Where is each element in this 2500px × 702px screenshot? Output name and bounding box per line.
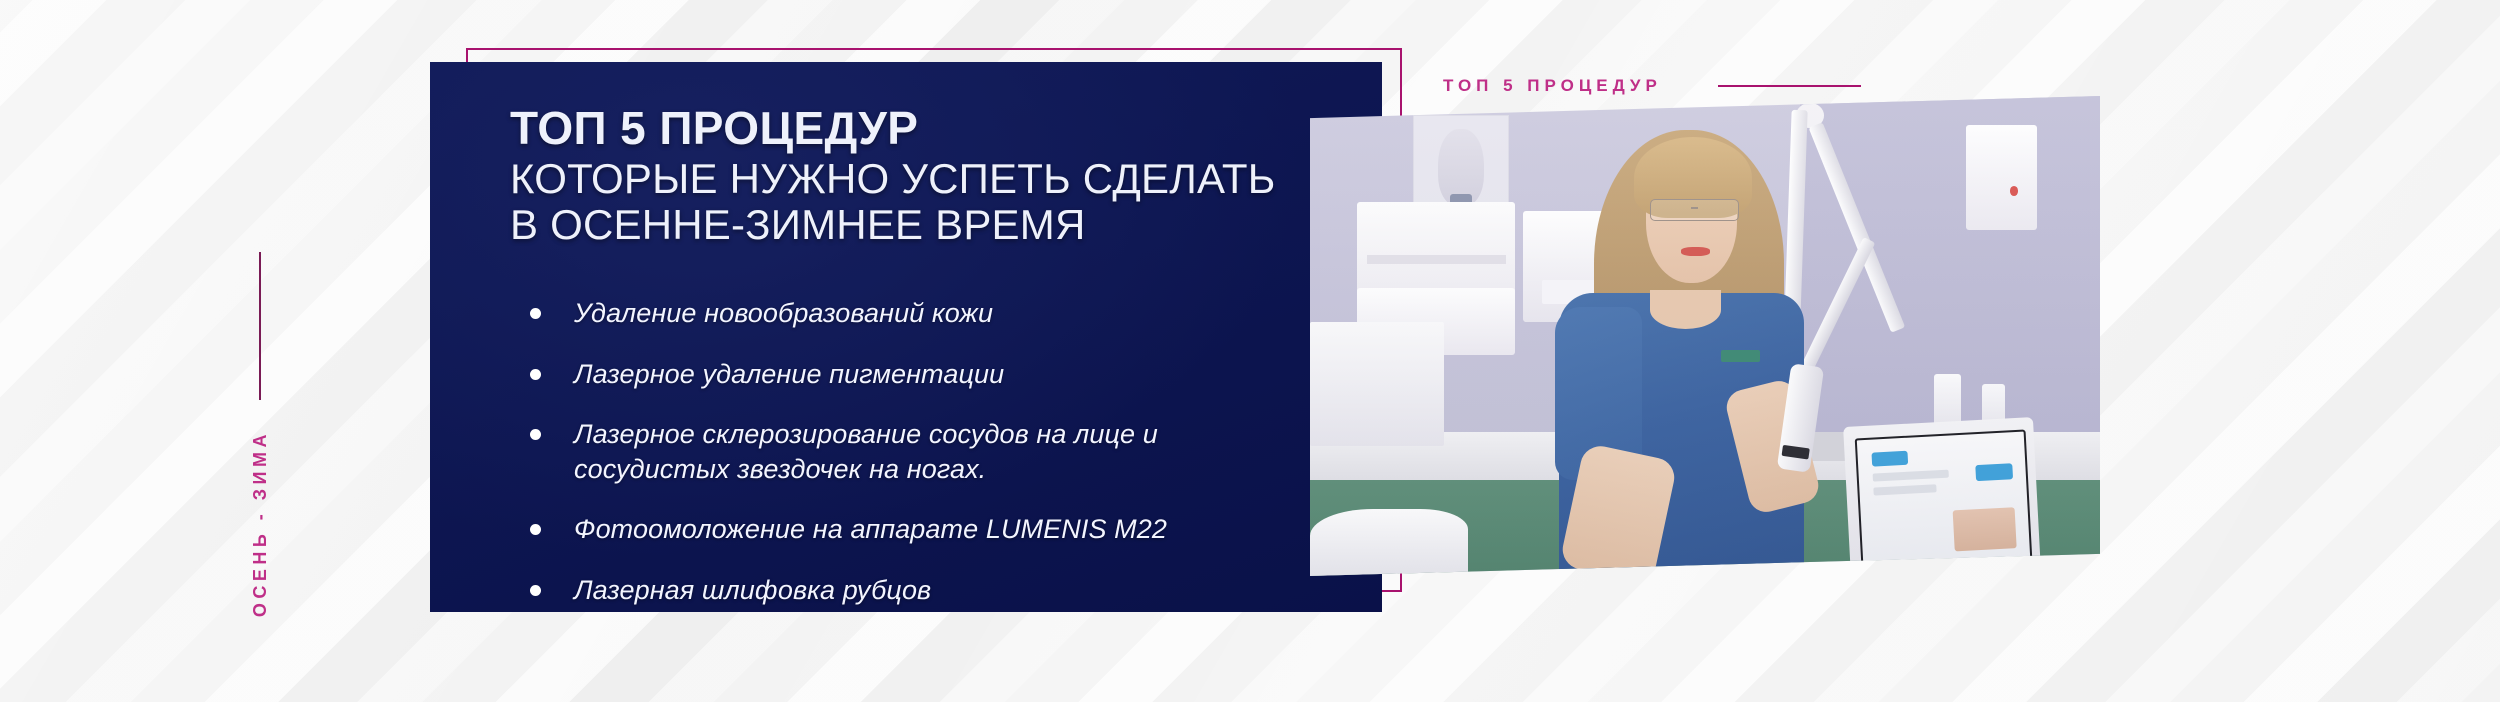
headline-line-2: КОТОРЫЕ НУЖНО УСПЕТЬ СДЕЛАТЬ — [510, 156, 1350, 202]
list-item: Лазерное склерозирование сосудов на лице… — [512, 417, 1312, 486]
season-vertical-label: ОСЕНЬ - ЗИМА — [233, 430, 287, 640]
eyebrow-label: ТОП 5 ПРОЦЕДУР — [1443, 76, 1861, 96]
list-item: Лазерное удаление пигментации — [512, 357, 1312, 392]
eyebrow-label-text: ТОП 5 ПРОЦЕДУР — [1443, 76, 1662, 96]
list-item: Удаление новообразований кожи — [512, 296, 1312, 331]
headline-line-3: В ОСЕННЕ-ЗИМНЕЕ ВРЕМЯ — [510, 202, 1350, 248]
headline-line-1: ТОП 5 ПРОЦЕДУР — [510, 104, 1350, 154]
list-item: Лазерная шлифовка рубцов — [512, 573, 1312, 608]
season-vertical-label-text: ОСЕНЬ - ЗИМА — [250, 430, 271, 617]
photo-color-tone — [1310, 96, 2100, 576]
procedure-list: Удаление новообразований кожи Лазерное у… — [512, 296, 1312, 607]
left-vertical-rule — [259, 252, 261, 400]
promo-banner: ОСЕНЬ - ЗИМА ТОП 5 ПРОЦЕДУР КОТОРЫЕ НУЖН… — [0, 0, 2500, 702]
list-item: Фотоомоложение на аппарате LUMENIS M22 — [512, 512, 1312, 547]
clinic-photo — [1310, 96, 2100, 576]
eyebrow-rule — [1718, 85, 1861, 87]
headline: ТОП 5 ПРОЦЕДУР КОТОРЫЕ НУЖНО УСПЕТЬ СДЕЛ… — [510, 104, 1350, 248]
photo-room — [1310, 96, 2100, 576]
